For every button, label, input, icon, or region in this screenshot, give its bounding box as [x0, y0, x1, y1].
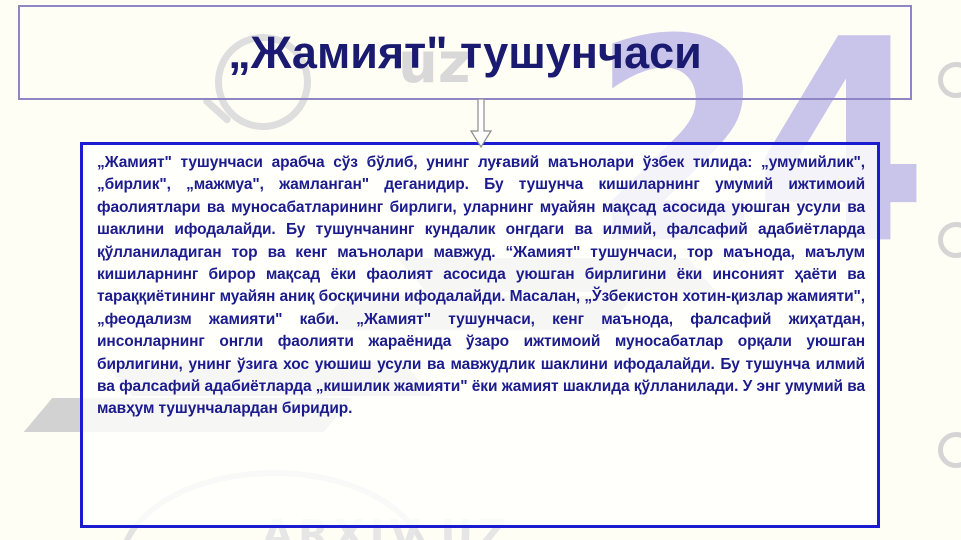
slide-canvas: uz 24 ARXIV.UZ „Жамият" тушунчаси „Жамия…	[0, 0, 961, 540]
down-arrow-icon	[468, 99, 494, 149]
body-text-box: „Жамият" тушунчаси арабча сўз бўлиб, уни…	[80, 142, 880, 528]
watermark-dot-icon	[938, 222, 961, 258]
title-box: „Жамият" тушунчаси	[18, 5, 912, 100]
body-paragraph: „Жамият" тушунчаси арабча сўз бўлиб, уни…	[97, 152, 865, 421]
page-title: „Жамият" тушунчаси	[228, 27, 702, 79]
watermark-dot-icon	[938, 432, 961, 468]
watermark-dot-icon	[938, 62, 961, 98]
